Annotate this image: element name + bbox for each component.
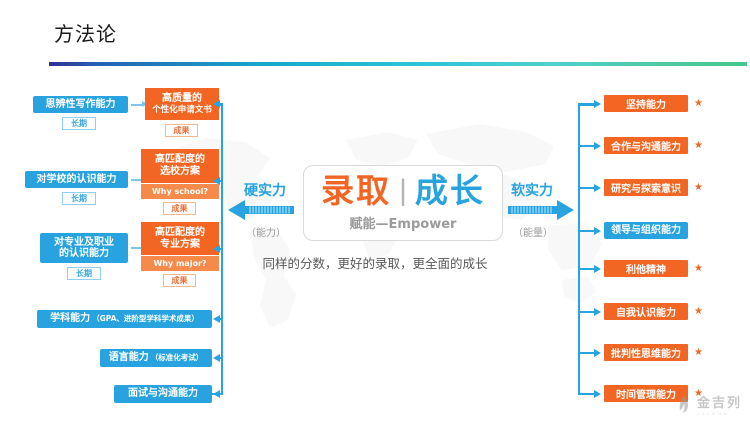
- center-word-growth: 成长: [415, 174, 485, 207]
- right-branch-arrow-2: [594, 142, 601, 150]
- right-spine-line: [578, 104, 580, 394]
- right-branch-arrow-4: [594, 227, 601, 235]
- center-subtitle: 赋能—Empower: [350, 213, 457, 232]
- brand-watermark: 金吉列 J J L E D U: [675, 392, 742, 416]
- left-ability-badge-2: 长期: [62, 192, 96, 205]
- right-branch-arrow-8: [594, 390, 601, 398]
- title-divider-rule: [49, 62, 747, 66]
- right-branch-arrow-7: [594, 349, 601, 357]
- left-plain-box-2[interactable]: 语言能力 （标准化考试）: [100, 349, 212, 367]
- hard-power-arrow-icon: [228, 199, 294, 221]
- left-outcome-badge-2: 成果: [163, 202, 196, 215]
- left-outcome-sub-2[interactable]: Why school?: [141, 184, 219, 199]
- right-item-star-6: ★: [694, 307, 703, 317]
- left-outcome-badge-3: 成果: [163, 274, 196, 287]
- left-plain-box-2-main: 语言能力: [109, 352, 149, 364]
- right-item-box-1[interactable]: 坚持能力: [604, 95, 688, 112]
- center-word-admission: 录取: [321, 174, 391, 207]
- left-outcome-box-1[interactable]: 高质量的 个性化申请文书: [145, 88, 219, 120]
- right-item-box-4[interactable]: 领导与组织能力: [604, 222, 688, 239]
- left-outcome-title-2a: 高匹配度的: [155, 154, 205, 166]
- right-item-box-2[interactable]: 合作与沟通能力: [604, 137, 688, 154]
- left-spine-connector-1: [219, 103, 223, 105]
- left-ability-box-3-line1: 对专业及职业: [54, 237, 114, 249]
- right-branch-arrow-5: [594, 265, 601, 273]
- left-spine-connector-5: [219, 357, 223, 359]
- right-item-star-3: ★: [694, 183, 703, 193]
- center-headline: 录取 | 成长: [321, 174, 485, 207]
- left-outcome-box-3[interactable]: 高匹配度的 专业方案: [141, 222, 219, 255]
- brand-logo-icon: [675, 394, 693, 414]
- right-item-star-2: ★: [694, 141, 703, 151]
- left-spine-bottom-cap: [203, 393, 223, 395]
- center-divider: |: [399, 176, 407, 206]
- right-item-box-5[interactable]: 利他精神: [604, 260, 688, 277]
- left-outcome-badge-1: 成果: [165, 124, 198, 137]
- left-outcome-title-3b: 专业方案: [160, 239, 200, 251]
- right-item-box-7[interactable]: 批判性思维能力: [604, 344, 688, 361]
- left-ability-badge-1: 长期: [62, 117, 96, 130]
- soft-power-paren: （能量）: [513, 224, 553, 239]
- right-branch-arrow-6: [594, 308, 601, 316]
- left-ability-box-1[interactable]: 思辨性写作能力: [33, 96, 128, 113]
- left-outcome-title-1b: 个性化申请文书: [152, 105, 212, 115]
- right-branch-arrow-3: [594, 184, 601, 192]
- left-outcome-title-1a: 高质量的: [162, 93, 202, 105]
- brand-sub: J J L E D U: [697, 411, 742, 416]
- soft-power-label: 软实力: [511, 180, 553, 200]
- left-plain-box-1-note: （GPA、进阶型学科学术成果）: [92, 315, 199, 324]
- left-plain-box-1-main: 学科能力: [50, 313, 90, 325]
- left-plain-box-3[interactable]: 面试与沟通能力: [114, 385, 212, 403]
- left-spine-connector-4: [219, 318, 223, 320]
- page-title: 方法论: [54, 18, 117, 47]
- right-item-box-3[interactable]: 研究与探索意识: [604, 179, 688, 196]
- left-spine-connector-2: [219, 180, 223, 182]
- left-outcome-title-2b: 选校方案: [160, 166, 200, 178]
- hard-power-label: 硬实力: [244, 180, 286, 200]
- right-branch-arrow-1: [594, 100, 601, 108]
- left-outcome-title-3a: 高匹配度的: [155, 227, 205, 239]
- left-plain-box-2-note: （标准化考试）: [151, 354, 204, 363]
- right-item-star-5: ★: [694, 264, 703, 274]
- left-plain-box-1[interactable]: 学科能力 （GPA、进阶型学科学术成果）: [37, 310, 212, 328]
- hard-power-paren: （能力）: [246, 224, 286, 239]
- right-item-box-6[interactable]: 自我认识能力: [604, 303, 688, 320]
- left-outcome-box-2[interactable]: 高匹配度的 选校方案: [141, 149, 219, 183]
- left-ability-box-2[interactable]: 对学校的认识能力: [25, 171, 128, 188]
- right-item-star-7: ★: [694, 348, 703, 358]
- soft-power-arrow-icon: [508, 199, 574, 221]
- left-spine-connector-3: [219, 248, 223, 250]
- brand-name: 金吉列: [697, 392, 742, 411]
- center-card: 录取 | 成长 赋能—Empower: [303, 165, 503, 241]
- right-item-star-1: ★: [694, 99, 703, 109]
- slide-canvas: 方法论 思辨性写作能力 长期 高质量的 个性化申请文书 成果 对学校的认识能力 …: [0, 0, 750, 422]
